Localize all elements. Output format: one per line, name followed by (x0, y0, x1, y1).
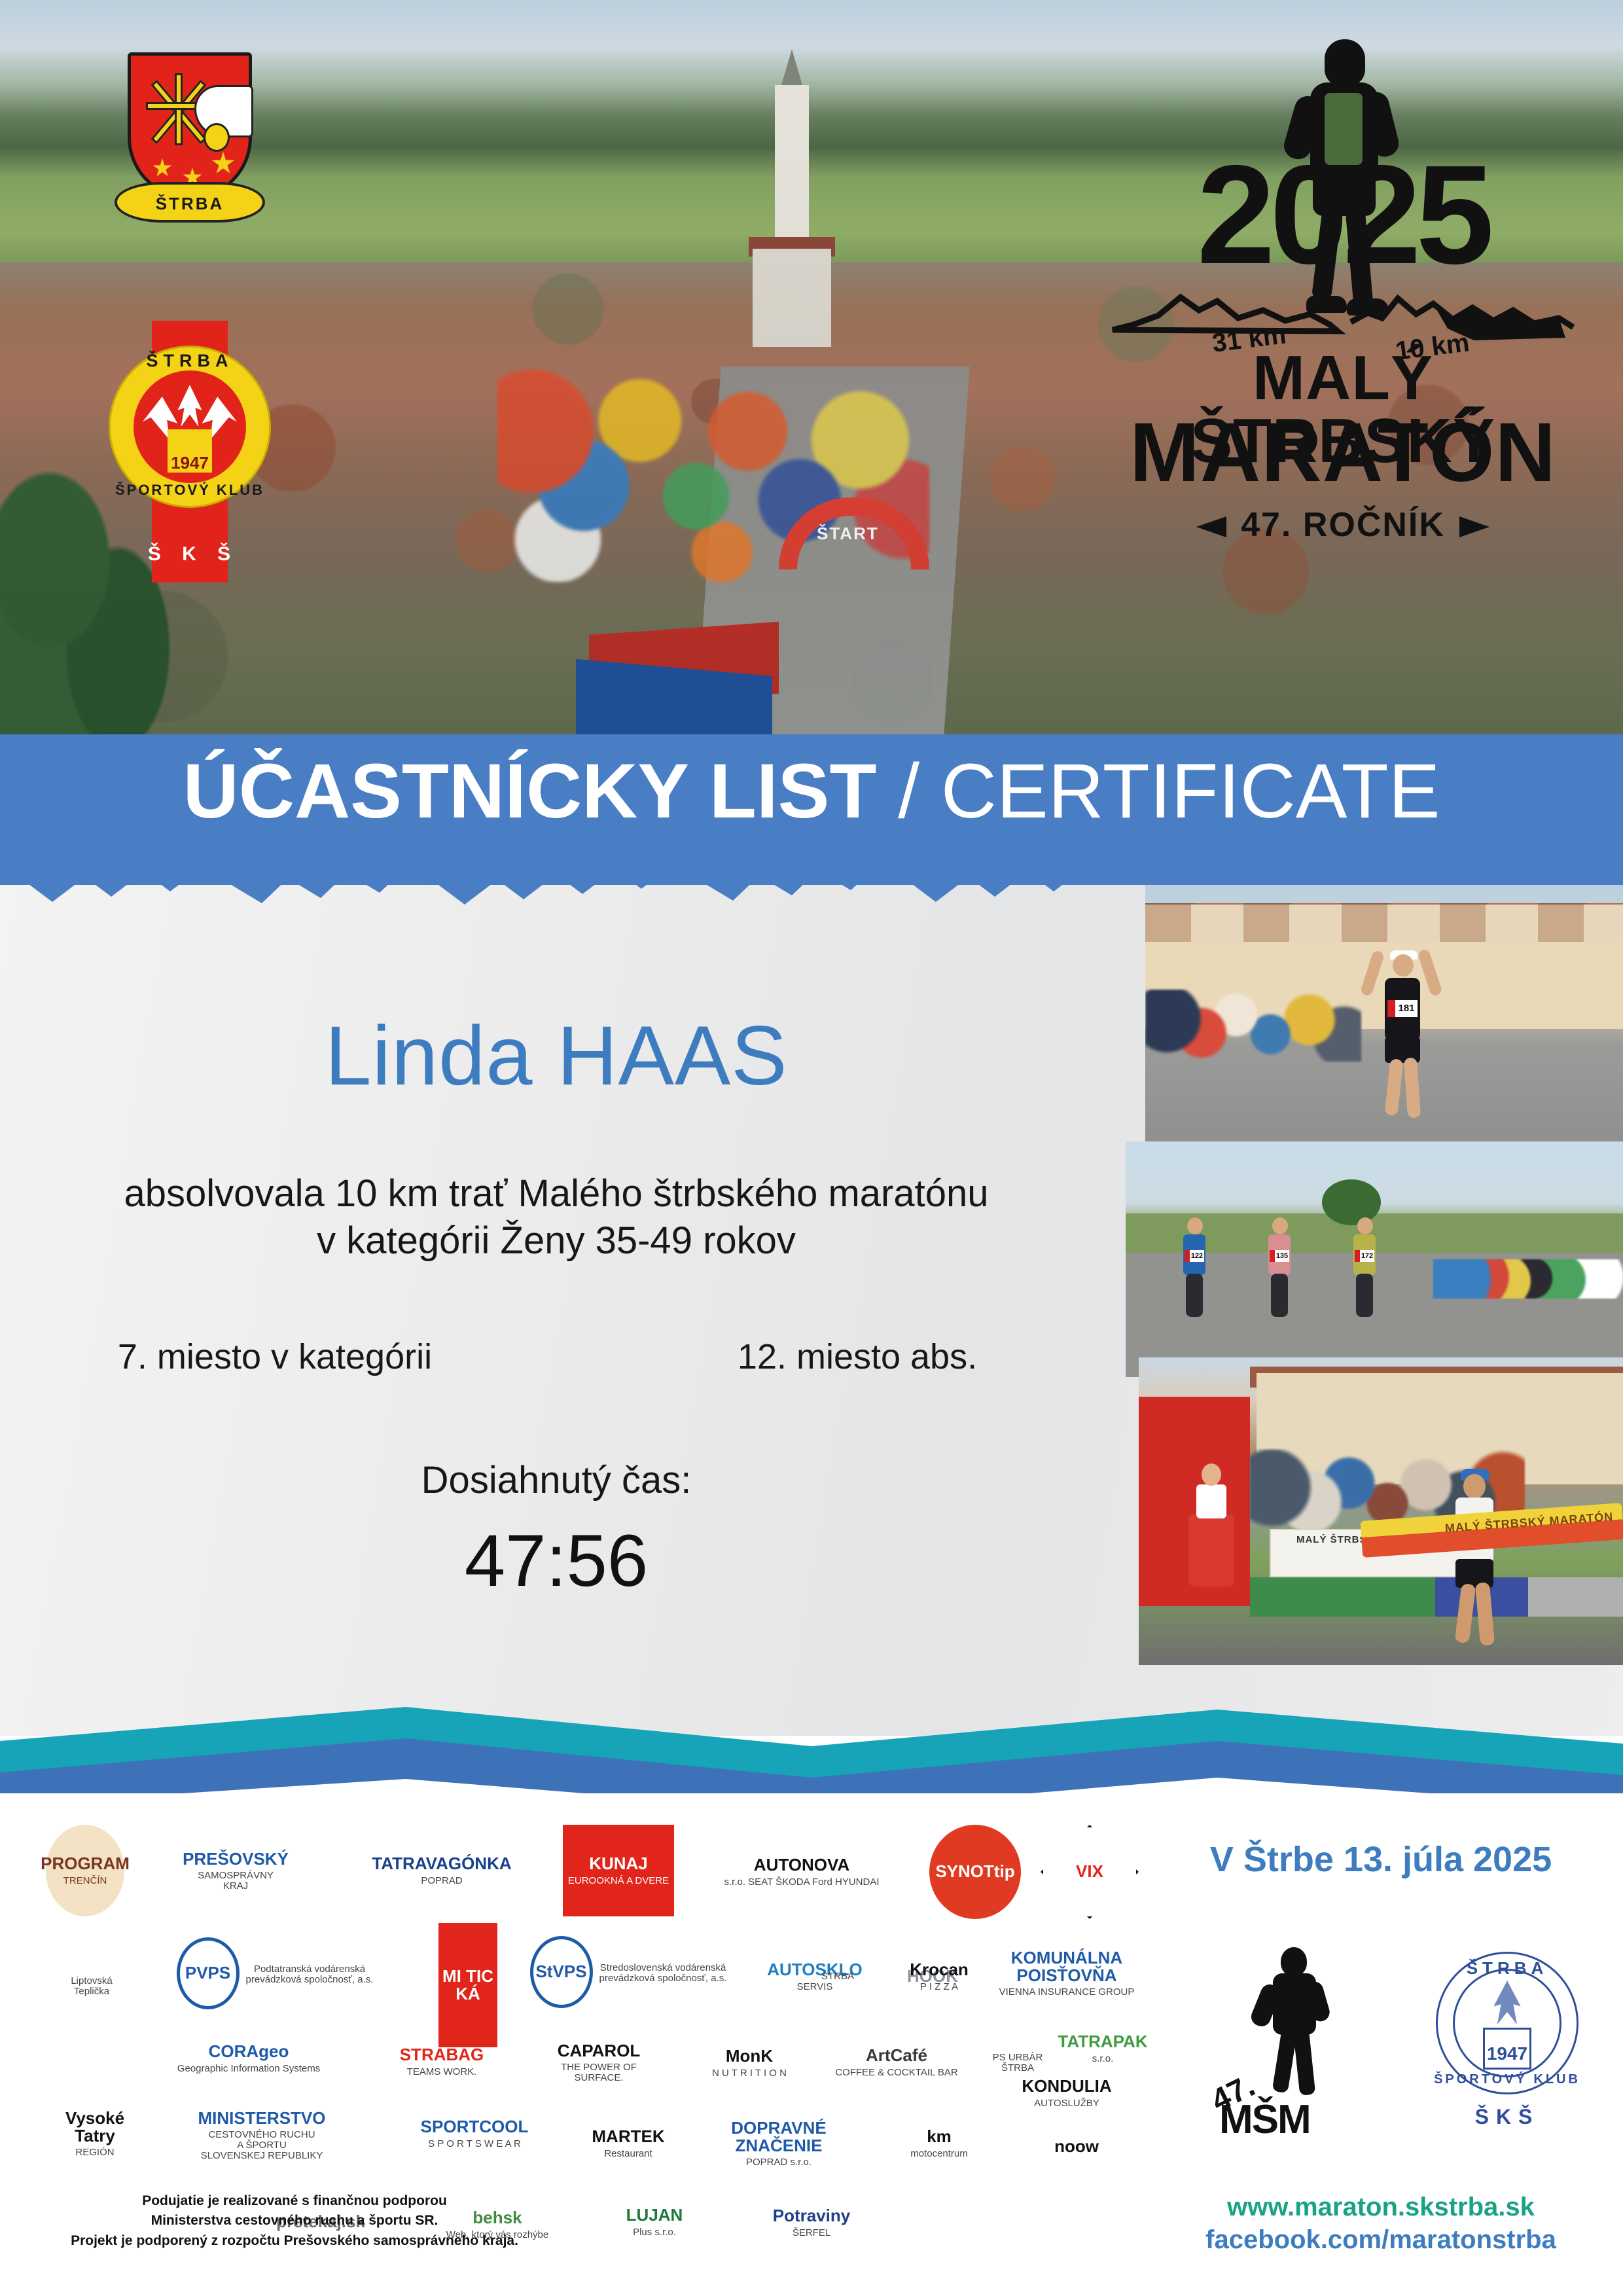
crest-cuff (204, 123, 230, 152)
sponsor-logo: PotravinyŠERFEL (740, 2191, 883, 2254)
arrow-right-icon (1459, 516, 1489, 537)
sponsor-logo: CAPAROLTHE POWER OF SURFACE. (537, 2024, 661, 2101)
sks-top-text: ŠTRBA (1419, 1958, 1596, 1979)
website-url[interactable]: www.maraton.skstrba.sk (1158, 2193, 1603, 2222)
sponsor-logo: KUNAJEUROOKNÁ A DVERE (563, 1825, 674, 1916)
msm-abbrev: MŠM (1219, 2096, 1310, 2143)
sponsor-name: PROGRAM (41, 1855, 130, 1873)
club-year: 1947 (105, 453, 275, 473)
sponsor-logo: MonKN U T R I T I O N (681, 2030, 818, 2096)
crest-banner: ŠTRBA (115, 182, 265, 223)
sponsor-tagline: REGIÓN (75, 2147, 114, 2158)
sponsor-name: LUJAN (626, 2206, 683, 2224)
place-absolute: 12. miesto abs. (674, 1336, 1041, 1377)
sks-abbrev: ŠKŠ (1419, 2105, 1596, 2129)
certificate-page: ŠTART ŠTRBA ŠTRBA 1947 ŠPORTOVÝ KLUB Š K… (0, 0, 1623, 2296)
sponsor-logo: KrocanP I Z Z A (890, 1931, 988, 2022)
sponsor-logo: PREŠOVSKÝSAMOSPRÁVNY KRAJ (144, 1831, 327, 1910)
banner-title-sk: ÚČASTNÍCKY LIST (183, 748, 877, 834)
club-abbrev: Š K Š (105, 543, 281, 753)
sponsor-tagline: TRENČÍN (63, 1876, 107, 1886)
event-title-block: 2025 31 km 10 km MALÝ ŠTRBSKÝ MARATÓN 47… (1101, 33, 1585, 609)
sponsor-tagline: EUROOKNÁ A DVERE (568, 1876, 669, 1886)
sponsor-logo: Liptovská Teplička (46, 1923, 137, 2047)
sponsor-tagline: AUTOSLUŽBY (1034, 2098, 1099, 2109)
event-year: 2025 (1101, 144, 1585, 285)
sponsor-logo: LUJANPlus s.r.o. (596, 2189, 713, 2255)
sponsor-name: SYNOTtip (935, 1863, 1014, 1880)
sponsor-tagline: VIENNA INSURANCE GROUP (999, 1987, 1135, 1998)
sponsor-tagline: SAMOSPRÁVNY KRAJ (198, 1871, 274, 1892)
sponsor-name: AUTONOVA (754, 1856, 849, 1874)
banner-title-separator: / (876, 748, 940, 834)
runner-icon (1253, 1947, 1332, 2098)
sponsor-tagline: THE POWER OF SURFACE. (537, 2062, 661, 2083)
sponsor-tagline: N U T R I T I O N (712, 2068, 787, 2079)
sponsor-name: noow (1054, 2138, 1099, 2155)
sponsor-logo: KOMUNÁLNA POISŤOVŇAVIENNA INSURANCE GROU… (988, 1934, 1145, 2013)
disclaimer-line-1: Podujatie je realizované s finančnou pod… (142, 2193, 447, 2208)
sponsor-name: PREŠOVSKÝ (183, 1850, 289, 1868)
sponsor-logo: SYNOTtip (929, 1825, 1021, 1919)
sponsor-badge: PVPS (177, 1937, 240, 2009)
club-bottom-text: ŠPORTOVÝ KLUB (105, 482, 275, 499)
banner-title: ÚČASTNÍCKY LIST / CERTIFICATE (0, 753, 1623, 830)
facebook-url[interactable]: facebook.com/maratonstrba (1158, 2225, 1603, 2255)
sks-year: 1947 (1419, 2043, 1596, 2064)
sponsor-tagline: ŠTRBA (821, 1971, 854, 1982)
certificate-line-2: v kategórii Ženy 35-49 rokov (0, 1219, 1113, 1263)
sponsor-name: KUNAJ (589, 1855, 648, 1873)
sponsor-name: CORAgeo (209, 2043, 289, 2060)
sponsor-tagline: POPRAD (421, 1876, 462, 1886)
sponsor-name: DOPRAVNÉ ZNAČENIE (694, 2119, 864, 2155)
mountain-outline-icon (1107, 281, 1578, 347)
sponsor-tagline: COFFEE & COCKTAIL BAR (835, 2068, 958, 2078)
photo-finisher-woman: 181 (1145, 885, 1623, 1160)
sponsor-logo: TATRAVAGÓNKAPOPRAD (347, 1831, 537, 1910)
sponsor-logo: PVPSPodtatranská vodárenská prevádzková … (151, 1931, 399, 2016)
sponsor-logo: ŠTRBA (792, 1929, 883, 2021)
sponsor-logo-grid: PROGRAMTRENČÍNPREŠOVSKÝSAMOSPRÁVNY KRAJT… (39, 1820, 1145, 2225)
participant-name: Linda HAAS (0, 1008, 1113, 1104)
sponsor-logo: KONDULIAAUTOSLUŽBY (995, 2060, 1139, 2126)
sponsor-tagline: s.r.o. SEAT ŠKODA Ford HYUNDAI (724, 1877, 879, 1888)
photo-collage: 181 122 135 172 MALÝ ŠTRBSKÝ MARATÓN 8 (1126, 885, 1623, 1736)
sponsor-tagline: S P O R T S W E A R (428, 2139, 521, 2149)
sponsor-tagline: Plus s.r.o. (633, 2227, 676, 2238)
sponsor-logo: VIX (1041, 1825, 1139, 1919)
sponsor-tagline: ŠERFEL (793, 2228, 830, 2238)
sponsor-name: MARTEK (592, 2128, 664, 2145)
strba-coat-of-arms: ŠTRBA (115, 39, 265, 236)
event-edition: 47. ROČNÍK (1101, 505, 1585, 545)
sponsor-logo: CORAgeoGeographic Information Systems (151, 2022, 347, 2094)
sponsor-name: MINISTERSTVO (198, 2109, 325, 2127)
sponsor-logo: StVPSStredoslovenská vodárenská prevádzk… (517, 1929, 740, 2015)
msm-logo: 47. MŠM (1207, 1947, 1371, 2144)
sponsor-logo: PROGRAMTRENČÍN (46, 1825, 124, 1916)
sponsor-name: SPORTCOOL (421, 2118, 529, 2136)
sponsor-badge: StVPS (530, 1936, 593, 2008)
sponsor-name: MonK (726, 2047, 773, 2065)
sports-club-emblem: ŠTRBA 1947 ŠPORTOVÝ KLUB Š K Š (105, 314, 275, 589)
sponsor-name: STRABAG (400, 2046, 484, 2064)
sponsor-logo: kmmotocentrum (880, 2108, 998, 2179)
sponsor-tagline: P I Z Z A (920, 1982, 958, 1992)
sponsor-name: TATRAVAGÓNKA (372, 1855, 511, 1873)
sponsor-logo: DOPRAVNÉ ZNAČENIEPOPRAD s.r.o. (694, 2114, 864, 2173)
sponsor-name: km (927, 2128, 952, 2145)
sponsor-tagline: TEAMS WORK. (407, 2067, 477, 2077)
sponsor-logo: Vysoké TatryREGIÓN (46, 2085, 144, 2183)
banner-title-en: CERTIFICATE (941, 748, 1440, 834)
photo2-bib-number: 135 (1270, 1250, 1289, 1262)
photo-runners-on-road: 122 135 172 (1126, 1141, 1623, 1377)
sponsor-name: VIX (1076, 1863, 1103, 1880)
place-in-category: 7. miesto v kategórii (92, 1336, 458, 1377)
sponsor-tagline: Geographic Information Systems (177, 2064, 320, 2074)
sponsor-tagline: CESTOVNÉHO RUCHU A ŠPORTU SLOVENSKEJ REP… (201, 2130, 323, 2161)
sponsor-tagline: Restaurant (604, 2149, 652, 2159)
sponsor-name: CAPAROL (558, 2042, 641, 2060)
sponsor-tagline: motocentrum (910, 2149, 968, 2159)
sponsor-name: Krocan (910, 1961, 969, 1979)
photo1-bib-number: 181 (1387, 1000, 1418, 1017)
sponsor-tagline: Liptovská Teplička (71, 1976, 112, 1997)
sponsor-tagline: Stredoslovenská vodárenská prevádzková s… (599, 1963, 727, 1984)
sponsor-name: KOMUNÁLNA POISŤOVŇA (1011, 1949, 1122, 1985)
event-edition-label: 47. ROČNÍK (1241, 506, 1445, 544)
sponsor-logo: AUTONOVAs.r.o. SEAT ŠKODA Ford HYUNDAI (694, 1827, 910, 1916)
sponsor-logo: MINISTERSTVOCESTOVNÉHO RUCHU A ŠPORTU SL… (154, 2089, 370, 2181)
finish-time: 47:56 (0, 1518, 1113, 1603)
disclaimer-line-2: Ministerstva cestovného ruchu a športu S… (151, 2213, 438, 2228)
sponsor-logo: SPORTCOOLS P O R T S W E A R (393, 2098, 556, 2170)
funding-disclaimer: Podujatie je realizované s finančnou pod… (46, 2191, 543, 2251)
sponsor-name: KONDULIA (1022, 2077, 1111, 2095)
sks-mid-text: ŠPORTOVÝ KLUB (1419, 2072, 1596, 2087)
sponsor-tagline: Podtatranská vodárenská prevádzková spol… (246, 1964, 374, 1985)
disclaimer-line-3: Projekt je podporený z rozpočtu Prešovsk… (71, 2233, 518, 2248)
sponsor-name: Potraviny (773, 2207, 851, 2225)
sks-stamp-logo: ŠTRBA 1947 ŠPORTOVÝ KLUB ŠKŠ (1419, 1944, 1596, 2153)
time-label: Dosiahnutý čas: (0, 1458, 1113, 1502)
crest-banner-text: ŠTRBA (117, 194, 262, 214)
sponsor-logo: STRABAGTEAMS WORK. (366, 2026, 517, 2098)
sponsor-logo: ArtCaféCOFFEE & COCKTAIL BAR (834, 2024, 959, 2101)
certificate-line-1: absolvovala 10 km trať Malého štrbského … (0, 1172, 1113, 1215)
event-title-line2: MARATÓN (1101, 411, 1585, 495)
sponsor-name: MI TIC KÁ (438, 1967, 497, 2003)
club-top-text: ŠTRBA (105, 351, 275, 371)
sponsor-tagline: POPRAD s.r.o. (746, 2157, 811, 2168)
issue-date: V Štrbe 13. júla 2025 (1171, 1839, 1590, 1880)
photo-finish-line: MALÝ ŠTRBSKÝ MARATÓN 8 MALÝ ŠTRBSKÝ MARA… (1139, 1357, 1623, 1665)
photo2-bib-number: 122 (1185, 1250, 1204, 1262)
sponsor-name: ArtCafé (866, 2047, 927, 2064)
sponsor-name: TATRAPAK (1058, 2033, 1147, 2051)
photo2-bib-number: 172 (1355, 1250, 1374, 1262)
arrow-left-icon (1196, 516, 1226, 537)
sponsor-name: Vysoké Tatry (46, 2109, 144, 2145)
sponsor-logo: MARTEKRestaurant (576, 2101, 681, 2186)
